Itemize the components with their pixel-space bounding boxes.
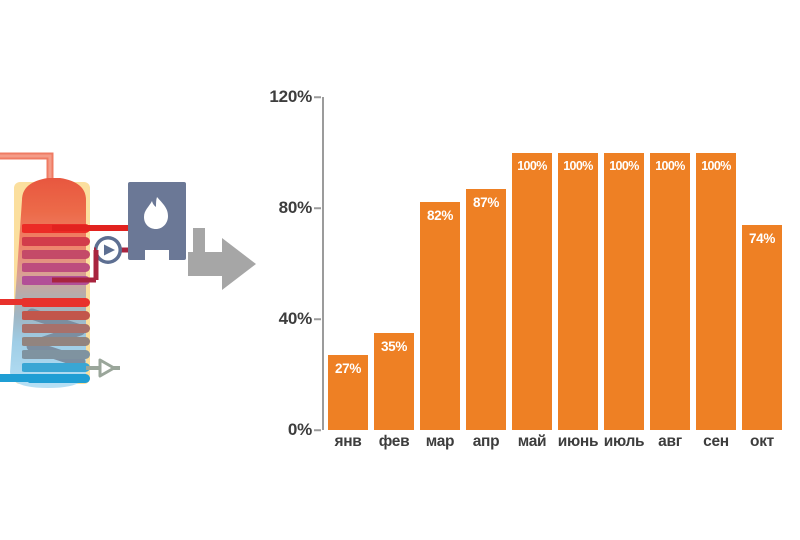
x-tick-label: июль bbox=[601, 433, 647, 451]
bar[interactable]: 100% bbox=[650, 153, 690, 431]
bar-group[interactable]: 100% bbox=[512, 85, 552, 430]
coil-band-upper-2 bbox=[20, 237, 90, 246]
bar-group[interactable]: 100% bbox=[558, 85, 598, 430]
bar[interactable]: 100% bbox=[558, 153, 598, 431]
x-tick-label: сен bbox=[693, 433, 739, 451]
coil-band-lower-6 bbox=[20, 363, 90, 372]
y-axis-line bbox=[322, 97, 324, 430]
coil-band-lower-4 bbox=[20, 337, 90, 346]
bar-value-label: 100% bbox=[650, 160, 690, 173]
bar-value-label: 27% bbox=[328, 362, 368, 376]
coil-band-lower-5 bbox=[20, 350, 90, 359]
bar-value-label: 100% bbox=[696, 160, 736, 173]
bar-value-label: 87% bbox=[466, 196, 506, 210]
bar[interactable]: 100% bbox=[604, 153, 644, 431]
x-tick-label: окт bbox=[739, 433, 785, 451]
bar[interactable]: 100% bbox=[696, 153, 736, 431]
bar-group[interactable]: 74% bbox=[742, 85, 782, 430]
bar[interactable]: 82% bbox=[420, 202, 460, 430]
y-tick-mark bbox=[314, 96, 321, 98]
system-diagram-svg bbox=[0, 0, 280, 535]
coil-band-lower-2 bbox=[20, 311, 90, 320]
y-tick-label: 80% bbox=[279, 198, 312, 218]
bar[interactable]: 100% bbox=[512, 153, 552, 431]
bar-value-label: 100% bbox=[558, 160, 598, 173]
x-tick-label: май bbox=[509, 433, 555, 451]
bar-group[interactable]: 87% bbox=[466, 85, 506, 430]
coil-band-upper-3 bbox=[20, 250, 90, 259]
bar-group[interactable]: 100% bbox=[696, 85, 736, 430]
bar-group[interactable]: 100% bbox=[604, 85, 644, 430]
bar-group[interactable]: 27% bbox=[328, 85, 368, 430]
y-tick-label: 0% bbox=[288, 420, 312, 440]
bar[interactable]: 27% bbox=[328, 355, 368, 430]
coil-band-upper-4 bbox=[20, 263, 90, 272]
y-tick-mark bbox=[314, 429, 321, 431]
bar-value-label: 35% bbox=[374, 340, 414, 354]
y-tick-mark bbox=[314, 318, 321, 320]
x-tick-label: июнь bbox=[555, 433, 601, 451]
y-tick-label: 120% bbox=[269, 87, 312, 107]
bar-group[interactable]: 100% bbox=[650, 85, 690, 430]
y-tick-label: 40% bbox=[279, 309, 312, 329]
x-axis: янвфевмарапрмайиюньиюльавгсенокт bbox=[328, 433, 800, 461]
coil-band-lower-3 bbox=[20, 324, 90, 333]
bar[interactable]: 74% bbox=[742, 225, 782, 430]
x-tick-label: янв bbox=[325, 433, 371, 451]
plot-area: 27%35%82%87%100%100%100%100%100%74% bbox=[328, 85, 800, 430]
boiler-base-notch bbox=[145, 250, 169, 262]
y-tick-mark bbox=[314, 207, 321, 209]
bar[interactable]: 87% bbox=[466, 189, 506, 430]
bar-value-label: 74% bbox=[742, 232, 782, 246]
bar-chart: 0%40%80%120% 27%35%82%87%100%100%100%100… bbox=[270, 85, 800, 460]
drain-valve bbox=[86, 360, 120, 376]
gas-boiler bbox=[128, 182, 186, 262]
bar-group[interactable]: 82% bbox=[420, 85, 460, 430]
x-tick-label: мар bbox=[417, 433, 463, 451]
bar[interactable]: 35% bbox=[374, 333, 414, 430]
bar-group[interactable]: 35% bbox=[374, 85, 414, 430]
x-tick-label: авг bbox=[647, 433, 693, 451]
x-tick-label: фев bbox=[371, 433, 417, 451]
y-axis: 0%40%80%120% bbox=[270, 85, 322, 430]
x-tick-label: апр bbox=[463, 433, 509, 451]
bar-value-label: 100% bbox=[512, 160, 552, 173]
system-diagram bbox=[0, 0, 280, 535]
bar-value-label: 100% bbox=[604, 160, 644, 173]
bar-value-label: 82% bbox=[420, 209, 460, 223]
